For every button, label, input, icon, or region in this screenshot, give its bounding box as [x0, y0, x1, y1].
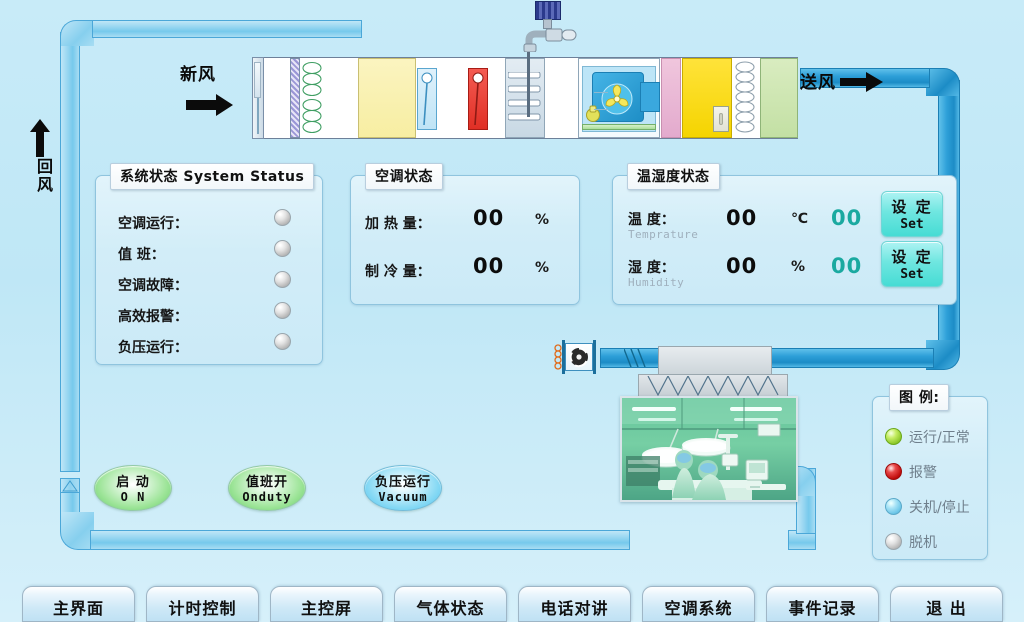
fan-belt-icon [594, 92, 608, 110]
exhaust-fan-flange-left [562, 340, 565, 374]
legend-panel: 图 例: 运行/正常 报警 关机/停止 脱机 [872, 396, 988, 560]
flex-connector-icon [624, 349, 646, 367]
cooling-label: 制 冷 量： [365, 261, 431, 281]
humidity-set-button[interactable]: 设 定 Set [881, 241, 943, 287]
humidity-unit: % [791, 259, 805, 275]
fan-outlet [640, 82, 660, 112]
temperature-unit: ℃ [791, 211, 808, 227]
ahu-pink-filter [661, 58, 681, 138]
nav-intercom-label: 电话对讲 [519, 595, 630, 619]
humidity-sublabel: Humidity [628, 276, 684, 289]
humidity-setpoint: 00 [831, 254, 862, 278]
legend-label-offline: 脱机 [909, 532, 937, 552]
humidity-set-label-cn: 设 定 [882, 246, 942, 267]
return-air-duct-vertical [60, 32, 80, 472]
humidifier-actuator-icon [535, 1, 561, 20]
nav-main-control-panel-label: 主控屏 [271, 595, 382, 619]
duct-corner-top-left [60, 20, 94, 46]
status-lamp-ac-running [274, 209, 291, 226]
nav-exit-label: 退 出 [891, 595, 1002, 619]
legend-lamp-running [885, 428, 902, 445]
nav-gas-status[interactable]: 气体状态 [394, 586, 507, 622]
status-row-label-1: 值 班： [118, 244, 165, 264]
heating-unit: % [535, 212, 549, 228]
nav-hvac-system-label: 空调系统 [643, 595, 754, 619]
nav-main-screen[interactable]: 主界面 [22, 586, 135, 622]
status-row-label-0: 空调运行： [118, 213, 188, 233]
return-duct-top-horizontal [92, 20, 362, 38]
ahu-prefilter [290, 58, 300, 138]
legend-lamp-alarm [885, 463, 902, 480]
nav-hvac-system[interactable]: 空调系统 [642, 586, 755, 622]
humidifier-valve-icon [518, 26, 578, 52]
nav-timer-control-label: 计时控制 [147, 595, 258, 619]
vacuum-button[interactable]: 负压运行 Vacuum [364, 465, 442, 511]
system-status-panel: 系统状态 System Status 空调运行： 值 班： 空调故障： 高效报警… [95, 175, 323, 365]
status-row-label-2: 空调故障： [118, 275, 188, 295]
temp-humidity-title: 温湿度状态 [627, 163, 720, 190]
fresh-air-arrow-icon [186, 92, 234, 118]
start-button[interactable]: 启 动 O N [94, 465, 172, 511]
temperature-set-button[interactable]: 设 定 Set [881, 191, 943, 237]
legend-label-alarm: 报警 [909, 462, 937, 482]
status-lamp-negative-pressure [274, 333, 291, 350]
ac-status-panel: 空调状态 加 热 量： 00 % 制 冷 量： 00 % [350, 175, 580, 305]
diffuser-vanes-icon [646, 376, 780, 397]
heating-coil-gauge-icon [470, 70, 486, 128]
ahu-yellow-filter-section [358, 58, 416, 138]
temperature-set-label-cn: 设 定 [882, 196, 942, 217]
status-lamp-hepa-alarm [274, 302, 291, 319]
cooling-unit: % [535, 260, 549, 276]
nav-gas-status-label: 气体状态 [395, 595, 506, 619]
inlet-damper-rod-icon [257, 98, 259, 134]
nav-timer-control[interactable]: 计时控制 [146, 586, 259, 622]
temperature-setpoint: 00 [831, 206, 862, 230]
return-duct-bottom-horizontal [90, 530, 630, 550]
temperature-label: 温 度： [628, 209, 675, 229]
ahu-coil-loops-2 [733, 60, 757, 136]
bottom-navbar: 主界面 计时控制 主控屏 气体状态 电话对讲 空调系统 事件记录 退 出 [0, 586, 1024, 622]
heating-value: 00 [473, 206, 504, 230]
status-lamp-ac-fault [274, 271, 291, 288]
legend-lamp-offline [885, 533, 902, 550]
temperature-sublabel: Temprature [628, 228, 698, 241]
legend-label-stopped: 关机/停止 [909, 497, 970, 517]
fan-rail [582, 124, 656, 130]
start-button-label-cn: 启 动 [95, 471, 171, 490]
temperature-set-label-en: Set [882, 217, 942, 232]
vacuum-button-label-en: Vacuum [365, 490, 441, 504]
vacuum-button-label-cn: 负压运行 [365, 471, 441, 490]
nav-exit[interactable]: 退 出 [890, 586, 1003, 622]
nav-intercom[interactable]: 电话对讲 [518, 586, 631, 622]
duct-corner-bottom-left [60, 512, 94, 550]
cooling-coil-gauge-icon [419, 70, 435, 128]
nav-main-control-panel[interactable]: 主控屏 [270, 586, 383, 622]
supply-plenum-box [658, 346, 772, 376]
humidity-label: 湿 度： [628, 257, 675, 277]
onduty-button-label-en: Onduty [229, 490, 305, 504]
return-air-label: 回风 [31, 158, 55, 194]
heating-label: 加 热 量： [365, 213, 431, 233]
ahu-coil-loops-1 [300, 60, 324, 136]
supply-air-arrow-icon [840, 70, 884, 94]
status-row-label-4: 负压运行： [118, 337, 188, 357]
humidifier-steam-pipe [527, 45, 530, 117]
legend-label-running: 运行/正常 [909, 427, 970, 447]
status-row-label-3: 高效报警： [118, 306, 188, 326]
humidifier-stem-icon [543, 19, 552, 29]
supply-air-label: 送风 [800, 68, 836, 93]
ac-status-title: 空调状态 [365, 163, 443, 190]
louver-blades-icon [508, 72, 542, 126]
access-door-handle-icon [719, 113, 723, 125]
operating-room-photo [620, 396, 798, 502]
supply-duct-corner-top-right [926, 68, 960, 96]
nav-event-log-label: 事件记录 [767, 595, 878, 619]
exhaust-fan-icon [568, 346, 590, 368]
hvac-mimic-screen: 新风 送风 回风 系统状态 System Status 空调运行： 值 班： 空… [0, 0, 1024, 622]
legend-lamp-stopped [885, 498, 902, 515]
start-button-label-en: O N [95, 490, 171, 504]
return-air-arrow-icon [28, 118, 52, 158]
temperature-value: 00 [726, 206, 757, 230]
status-lamp-onduty [274, 240, 291, 257]
onduty-button-label-cn: 值班开 [229, 471, 305, 490]
exhaust-fan-flange-right [593, 340, 596, 374]
temp-humidity-panel: 温湿度状态 温 度： Temprature 00 ℃ 00 设 定 Set 湿 … [612, 175, 957, 305]
humidity-set-label-en: Set [882, 267, 942, 282]
damper-symbol-icon [62, 480, 78, 492]
nav-event-log[interactable]: 事件记录 [766, 586, 879, 622]
ahu-hepa-filter [760, 58, 798, 138]
nav-main-screen-label: 主界面 [23, 595, 134, 619]
legend-title: 图 例: [889, 384, 949, 411]
humidity-value: 00 [726, 254, 757, 278]
inlet-damper-blade-icon [254, 62, 261, 98]
fresh-air-label: 新风 [180, 60, 216, 85]
operating-room-scene-icon [622, 398, 796, 500]
cooling-value: 00 [473, 254, 504, 278]
system-status-title: 系统状态 System Status [110, 163, 314, 190]
onduty-button[interactable]: 值班开 Onduty [228, 465, 306, 511]
